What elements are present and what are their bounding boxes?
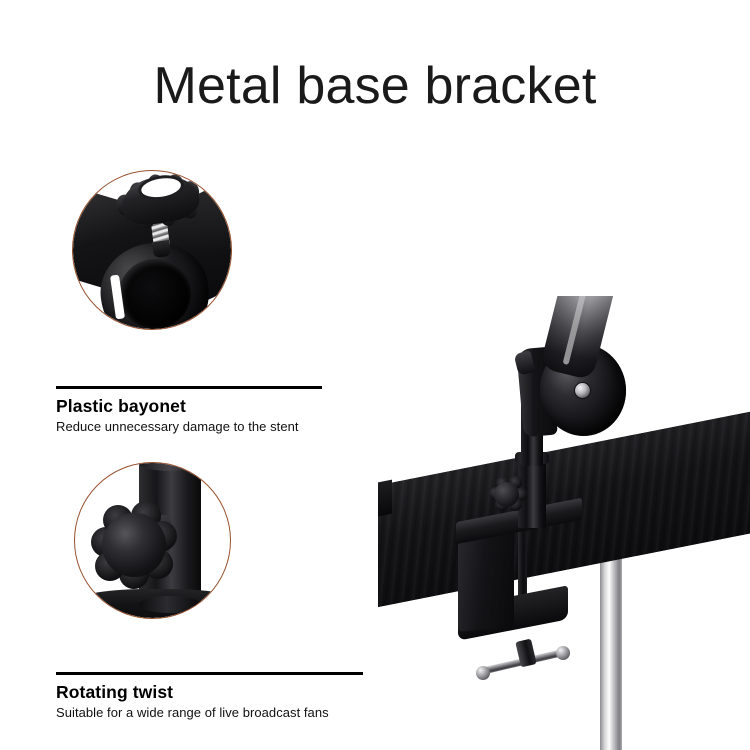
caption-divider <box>56 386 322 389</box>
bayonet-artwork <box>73 171 231 329</box>
clamp-handle-ball-right <box>556 646 570 660</box>
feature-caption-rotating-twist: Rotating twist Suitable for a wide range… <box>56 672 363 720</box>
clamp-handle-ball-left <box>476 666 490 680</box>
product-infographic: Metal base bracket <box>0 0 750 750</box>
twist-post-bottom-rim <box>139 596 201 613</box>
feature-subtitle: Reduce unnecessary damage to the stent <box>56 419 322 434</box>
twist-artwork <box>75 463 230 618</box>
product-photo <box>378 296 750 750</box>
riser-adjust-knob <box>490 478 524 510</box>
detail-circle-rotating-twist <box>74 462 231 619</box>
page-title: Metal base bracket <box>0 58 750 115</box>
feature-subtitle: Suitable for a wide range of live broadc… <box>56 705 363 720</box>
feature-heading: Rotating twist <box>56 682 363 703</box>
bayonet-screw-boss <box>152 240 171 258</box>
hinge-bolt-icon <box>574 382 591 399</box>
feature-heading: Plastic bayonet <box>56 396 322 417</box>
feature-caption-plastic-bayonet: Plastic bayonet Reduce unnecessary damag… <box>56 386 322 434</box>
chrome-table-leg-icon <box>600 544 622 750</box>
twist-star-knob <box>93 505 175 585</box>
caption-divider <box>56 672 363 675</box>
detail-circle-plastic-bayonet <box>72 170 232 330</box>
desk-edge-left <box>378 480 392 519</box>
